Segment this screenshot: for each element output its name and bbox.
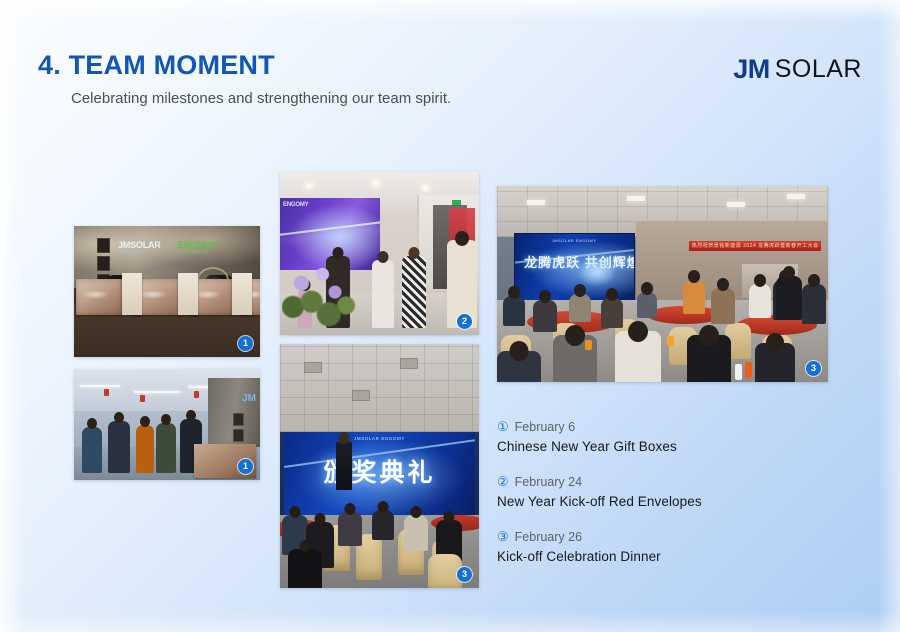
photo-scene: JMSOLAR ENGOMY 龙腾虎跃 共创辉煌 热烈祝贺景铭新能源 2024 … <box>497 186 828 382</box>
photo-index-badge: 2 <box>457 314 472 329</box>
wall-niche-icon <box>97 256 110 271</box>
wall-logo-jm: JM <box>242 393 256 404</box>
figure-head-icon <box>641 282 653 295</box>
figure-head-icon <box>338 432 349 444</box>
figure-head-icon <box>444 511 455 523</box>
foreground-guest-figure <box>755 343 795 382</box>
foreground-guest-figure <box>687 335 731 382</box>
guest-figure <box>533 300 557 332</box>
caption-date: February 26 <box>515 530 582 544</box>
gift-bag <box>122 273 142 315</box>
figure-head-icon <box>766 333 784 352</box>
caption-number-2-icon: ② <box>497 474 509 490</box>
guest-figure <box>749 284 771 318</box>
caption-date-row: ② February 24 <box>497 474 837 490</box>
slide-canvas: 4. TEAM MOMENT Celebrating milestones an… <box>0 0 900 632</box>
photo-red-envelope-handover[interactable]: ENGOMY 2 <box>280 172 479 335</box>
screen-logo-row: JMSOLAR ENGOMY <box>552 238 597 243</box>
figure-head-icon <box>754 274 766 287</box>
guest-figure <box>372 510 394 540</box>
guest-figure <box>404 515 428 551</box>
photo-index-badge: 1 <box>238 336 253 351</box>
figure-head-icon <box>186 410 196 421</box>
employee-figure <box>82 427 102 473</box>
red-lantern <box>140 395 145 402</box>
ceiling-light <box>527 200 545 205</box>
ceiling-vent-icon <box>352 390 370 401</box>
figure-head-icon <box>378 501 389 513</box>
guest-figure <box>683 280 705 314</box>
figure-head-icon <box>783 266 795 279</box>
figure-head-icon <box>628 321 648 342</box>
figure-head-icon <box>510 341 529 361</box>
caption-title: Kick-off Celebration Dinner <box>497 549 837 564</box>
photo-scene: ENGOMY <box>280 172 479 335</box>
figure-head-icon <box>315 513 326 525</box>
manager-figure <box>372 260 394 328</box>
ceiling-light <box>627 196 645 201</box>
ceiling-downlight <box>372 181 379 185</box>
wall-niche-icon <box>233 413 244 426</box>
figure-head-icon <box>161 414 171 425</box>
figure-head-icon <box>565 325 585 346</box>
brand-logo: JM SOLAR <box>733 54 862 85</box>
guest-figure <box>711 288 735 324</box>
caption-item: ① February 6 Chinese New Year Gift Boxes <box>497 419 837 454</box>
figure-head-icon <box>140 416 150 427</box>
photo-index-badge: 1 <box>238 459 253 474</box>
photo-kickoff-banquet-hall[interactable]: JMSOLAR ENGOMY 龙腾虎跃 共创辉煌 热烈祝贺景铭新能源 2024 … <box>497 186 828 382</box>
figure-head-icon <box>411 506 422 518</box>
figure-head-icon <box>409 247 420 259</box>
figure-head-icon <box>688 270 700 283</box>
caption-list: ① February 6 Chinese New Year Gift Boxes… <box>497 419 837 564</box>
figure-head-icon <box>300 540 311 552</box>
wall-logo-engomy: ENGOMY <box>178 240 217 250</box>
foreground-guest-figure <box>497 351 541 382</box>
guest-figure <box>503 296 525 326</box>
caption-date-row: ③ February 26 <box>497 529 837 545</box>
guest-figure <box>288 549 322 588</box>
wall-niche-icon <box>97 238 110 253</box>
photo-index-badge: 3 <box>806 361 821 376</box>
figure-head-icon <box>508 286 520 299</box>
gift-box <box>76 279 122 315</box>
ceiling-downlight <box>306 184 313 188</box>
figure-head-icon <box>699 325 719 346</box>
ceiling-light <box>134 391 180 393</box>
photo-scene: JMSOLAR ENGOMY 颁奖典礼 <box>280 344 479 588</box>
drink-bottle <box>585 340 592 350</box>
caption-date-row: ① February 6 <box>497 419 837 435</box>
figure-head-icon <box>539 290 551 303</box>
page-subtitle: Celebrating milestones and strengthening… <box>71 90 451 107</box>
figure-head-icon <box>717 278 729 291</box>
guest-figure <box>802 284 826 324</box>
employee-figure <box>402 256 426 328</box>
figure-head-icon <box>455 231 469 246</box>
caption-number-1-icon: ① <box>497 419 509 435</box>
photo-gift-boxes-showroom[interactable]: JMSOLAR 景铭新能源科技 ENGOMY 英格迈新能源科技 1 <box>74 226 260 357</box>
gift-bag <box>232 273 252 315</box>
speaker-figure <box>336 442 352 490</box>
wall-logo-jmsolar-sub: 景铭新能源科技 <box>118 250 145 255</box>
red-lantern <box>104 389 109 396</box>
drink-bottle <box>735 364 742 380</box>
guest-figure <box>569 294 591 322</box>
photo-office-gift-distribution[interactable]: JM 1 <box>74 369 260 480</box>
figure-head-icon <box>333 247 344 259</box>
guest-figure <box>601 298 623 328</box>
employee-figure <box>136 425 154 473</box>
ceiling-vent-icon <box>400 358 418 369</box>
figure-head-icon <box>574 284 586 297</box>
ceiling-light <box>787 194 805 199</box>
flower-arrangement <box>282 261 360 335</box>
wall-banner: 热烈祝贺景铭新能源 2024 龙腾虎跃暨新春开工大会 <box>689 241 821 251</box>
employee-figure <box>156 423 176 473</box>
ceiling-light <box>80 385 120 387</box>
guest-figure <box>637 292 657 318</box>
logo-word-text: SOLAR <box>775 55 862 84</box>
figure-head-icon <box>114 412 124 423</box>
caption-number-3-icon: ③ <box>497 529 509 545</box>
guest-figure <box>776 276 802 320</box>
photo-index-badge: 3 <box>457 567 472 582</box>
photo-scene: JM <box>74 369 260 480</box>
caption-item: ③ February 26 Kick-off Celebration Dinne… <box>497 529 837 564</box>
ceiling-downlight <box>422 186 429 190</box>
ceiling-light <box>727 202 745 207</box>
caption-title: Chinese New Year Gift Boxes <box>497 439 837 454</box>
figure-head-icon <box>87 418 97 429</box>
caption-date: February 24 <box>515 475 582 489</box>
screen-logo-row: JMSOLAR ENGOMY <box>354 436 405 441</box>
page-title: 4. TEAM MOMENT <box>38 50 275 81</box>
gift-bag <box>178 273 198 315</box>
hall-ceiling <box>280 344 479 432</box>
figure-head-icon <box>808 274 820 287</box>
red-lantern <box>194 391 199 398</box>
caption-item: ② February 24 New Year Kick-off Red Enve… <box>497 474 837 509</box>
wall-niche-icon <box>233 429 244 442</box>
figure-head-icon <box>378 251 389 263</box>
logo-mark-text: JM <box>733 54 770 85</box>
figure-head-icon <box>606 288 618 301</box>
screen-horse-graphic <box>577 257 617 287</box>
exit-sign-icon <box>452 200 461 205</box>
drink-bottle <box>667 336 674 346</box>
foreground-guest-figure <box>615 331 661 382</box>
ceiling-vent-icon <box>304 362 322 373</box>
wall-logo-engomy-sub: 英格迈新能源科技 <box>178 250 209 255</box>
figure-head-icon <box>290 506 301 518</box>
caption-date: February 6 <box>515 420 575 434</box>
figure-head-icon <box>345 503 356 515</box>
guest-figure <box>338 512 362 546</box>
wall-logo-jmsolar: JMSOLAR <box>118 240 161 250</box>
drink-bottle <box>745 362 752 378</box>
employee-figure <box>108 421 130 473</box>
photo-award-ceremony-stage[interactable]: JMSOLAR ENGOMY 颁奖典礼 3 <box>280 344 479 588</box>
led-wall-logo: ENGOMY <box>283 202 308 208</box>
caption-title: New Year Kick-off Red Envelopes <box>497 494 837 509</box>
photo-scene: JMSOLAR 景铭新能源科技 ENGOMY 英格迈新能源科技 <box>74 226 260 357</box>
